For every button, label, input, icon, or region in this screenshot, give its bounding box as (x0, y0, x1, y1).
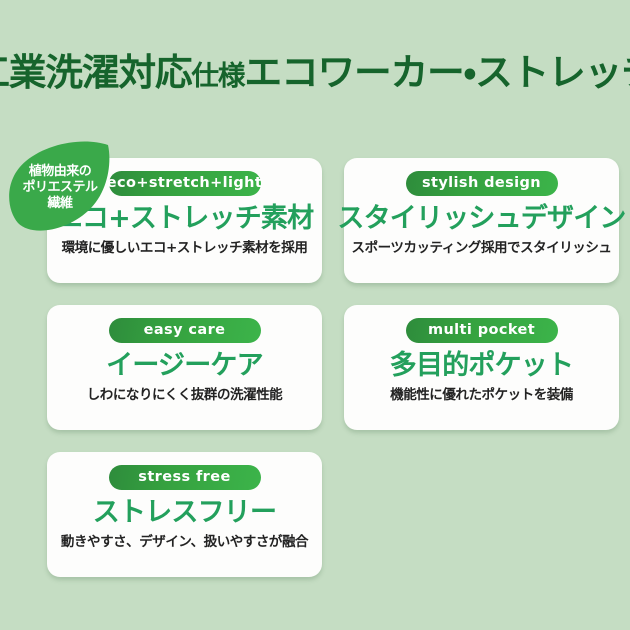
feature-card: easy care イージーケア しわになりにくく抜群の洗濯性能 (47, 305, 322, 430)
leaf-badge-line3: 繊維 (47, 196, 72, 212)
page-title-part2: 仕様 (191, 61, 244, 92)
feature-badge: easy care (109, 318, 261, 343)
feature-card-grid: eco+stretch+light エコ+ストレッチ素材 環境に優しいエコ+スト… (47, 158, 619, 577)
feature-description: 動きやすさ、デザイン、扱いやすさが融合 (61, 535, 308, 550)
feature-badge: multi pocket (406, 318, 558, 343)
feature-heading: ストレスフリー (93, 499, 276, 527)
feature-description: 機能性に優れたポケットを装備 (390, 388, 573, 403)
feature-badge: stress free (109, 465, 261, 490)
feature-badge: eco+stretch+light (109, 171, 261, 196)
page-title-part1: 工業洗濯対応 (0, 51, 191, 94)
feature-card: stylish design スタイリッシュデザイン スポーツカッティング採用で… (344, 158, 619, 283)
feature-card: stress free ストレスフリー 動きやすさ、デザイン、扱いやすさが融合 (47, 452, 322, 577)
page-title-text: 工業洗濯対応仕様エコワーカー・ストレッチ (0, 54, 630, 91)
feature-description: 環境に優しいエコ+ストレッチ素材を採用 (62, 241, 308, 256)
leaf-badge-line1: 植物由来の (29, 164, 92, 180)
leaf-badge-line2: ポリエステル (22, 180, 97, 196)
page-title: 工業洗濯対応仕様エコワーカー・ストレッチ (0, 42, 630, 102)
feature-heading: スタイリッシュデザイン (337, 205, 625, 233)
feature-card: multi pocket 多目的ポケット 機能性に優れたポケットを装備 (344, 305, 619, 430)
leaf-badge-text: 植物由来の ポリエステル 繊維 (8, 141, 112, 233)
plant-derived-leaf-badge: 植物由来の ポリエステル 繊維 (8, 141, 112, 233)
feature-heading: 多目的ポケット (390, 352, 573, 380)
feature-description: スポーツカッティング採用でスタイリッシュ (352, 241, 612, 256)
feature-badge: stylish design (406, 171, 558, 196)
feature-description: しわになりにくく抜群の洗濯性能 (87, 388, 282, 403)
feature-heading: イージーケア (106, 352, 263, 380)
page-title-part3: エコワーカー・ストレッチ (244, 51, 630, 94)
